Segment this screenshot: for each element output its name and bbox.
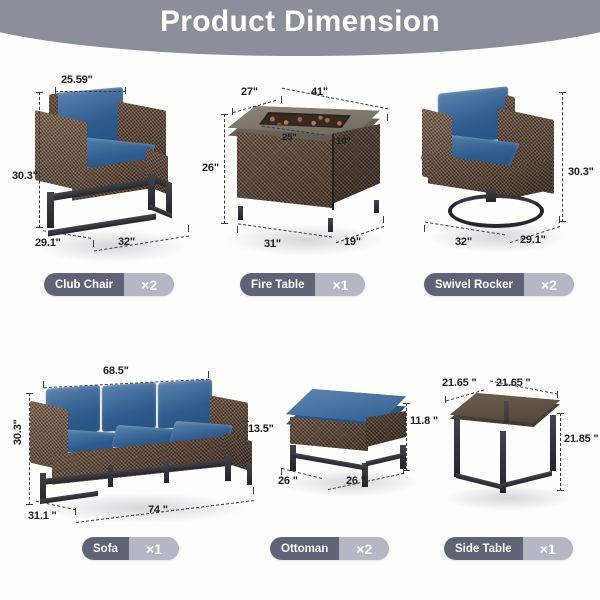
side-table-tick-height-bottom [557,490,564,491]
sofa-leg-mid-2 [164,461,169,483]
product-side-table: 21.65 " 21.65 " 21.85 " Side Table ×1 [434,365,600,565]
ottoman-tick-depth-left [281,468,282,475]
side-table-measure-height [560,413,561,491]
swivel-rocker-dim-depth: 29.1" [520,234,546,246]
sofa-tick-top-left [43,381,44,388]
side-table-tick-height-top [557,413,564,414]
sofa-measure-height [29,393,30,505]
swivel-rocker-name: Swivel Rocker [424,273,524,296]
fire-table-tick-width-right [387,114,388,121]
sofa-tick-height-bottom [26,504,33,505]
fire-table-tick-height-bottom [221,223,228,224]
sofa-tick-seat-top [242,421,249,422]
club-chair-quantity: ×2 [124,273,174,296]
sofa-leg-front-right [225,455,231,481]
side-table-tick-depth-left [445,396,446,403]
club-chair-tick-top-right [125,87,126,94]
club-chair-tick-top-left [55,87,56,94]
fire-table-tick-base-left [237,226,238,233]
swivel-rocker-illustration [400,66,596,266]
ottoman-rail-side [366,453,404,467]
club-chair-tick-height-top [36,92,43,93]
ottoman-label-pill[interactable]: Ottoman ×2 [270,537,389,560]
side-table-name: Side Table [444,537,523,560]
fire-table-leg-back-right [374,200,379,213]
fire-table-tick-depth-left [232,108,233,115]
fire-table-front-panel [237,132,333,208]
sofa-quantity: ×1 [129,537,179,560]
sofa-back-cushion-2 [102,382,156,432]
club-chair-label-pill[interactable]: Club Chair ×2 [44,273,174,296]
side-table-label-pill[interactable]: Side Table ×1 [444,537,573,560]
fire-table-leg-front-right [328,218,333,232]
ottoman-tick-height-top [403,403,410,404]
swivel-rocker-center-post [486,188,496,202]
sofa-tick-seat-bottom [242,444,249,445]
club-chair-tick-height-bottom [36,227,43,228]
sofa-leg-mid-1 [108,465,113,487]
sofa-dim-top-width: 68.5" [103,365,129,377]
sofa-stretcher [40,491,98,504]
club-chair-dim-depth: 29.1" [35,237,61,249]
side-table-tick-width-right [557,391,558,398]
swivel-rocker-swivel-ring [448,194,544,228]
side-table-illustration [434,365,600,525]
fire-table-measure-height [224,114,225,224]
side-table-quantity: ×1 [523,537,573,560]
fire-table-quantity: ×1 [315,273,365,296]
side-table-dim-depth: 21.65 " [442,377,476,389]
club-chair-measure-height [39,92,40,228]
sofa-name: Sofa [82,537,129,560]
club-chair-dim-height: 30.3" [12,170,38,182]
fire-table-corner-seam [332,134,334,210]
club-chair-leg-front-left [47,192,54,228]
side-table-rail-side [502,471,552,488]
ottoman-quantity: ×2 [339,537,389,560]
club-chair-measure-top [55,91,126,92]
fire-table-tick-base-right [383,216,384,223]
fire-table-tick-width-left [281,96,282,103]
side-table-leg-back-right [550,415,556,471]
ottoman-measure-height [406,403,407,471]
swivel-rocker-quantity: ×2 [524,273,574,296]
swivel-rocker-dim-height: 30.3" [568,166,594,178]
side-table-rail-front [456,473,504,490]
fire-table-dim-top-depth: 27" [241,86,258,98]
product-sofa: 68.5" 30.3" 13.5" 31.1 " 74 " Sofa ×1 [14,365,264,565]
fire-table-tick-height-top [221,114,228,115]
product-ottoman: 26 " 26 " 11.8 " Ottoman ×2 [266,365,434,565]
swivel-rocker-tick-depth-right [559,216,560,223]
sofa-tick-top-right [208,371,209,378]
ottoman-name: Ottoman [270,537,339,560]
sofa-dim-height: 30.3" [12,419,24,445]
fire-table-dim-height: 26" [202,162,219,174]
club-chair-name: Club Chair [44,273,124,296]
club-chair-leg-back-right [166,183,172,214]
page-title: Product Dimension [0,5,600,39]
swivel-rocker-label-pill[interactable]: Swivel Rocker ×2 [424,273,574,296]
ottoman-dim-depth: 26 " [278,475,298,487]
club-chair-tick-width-left [93,240,94,247]
sofa-tick-height-top [26,393,33,394]
page-header: Product Dimension [0,0,600,56]
club-chair-illustration [14,66,204,266]
sofa-tick-width-right [253,487,254,494]
swivel-rocker-measure-height [562,92,563,222]
product-swivel-rocker: 30.3" 32" 29.1" Swivel Rocker ×2 [400,66,596,302]
swivel-rocker-tick-width-left [424,225,425,232]
ottoman-tick-height-bottom [403,470,410,471]
sofa-leg-back-right [247,463,252,485]
sofa-measure-seat-height [245,421,246,445]
ottoman-rail-front [292,452,366,470]
product-club-chair: 25.59" 30.3" 29.1" 32" Club Chair ×2 [14,66,204,302]
swivel-rocker-tick-height-bottom [559,221,566,222]
fire-table-label-pill[interactable]: Fire Table ×1 [240,273,365,296]
fire-table-dim-burner-width: 25" [282,132,296,143]
ottoman-illustration [266,365,434,515]
swivel-rocker-tick-height-top [559,92,566,93]
sofa-leg-front-left [40,473,46,499]
side-table-dim-height: 21.85 " [564,433,598,445]
product-fire-table: 27" 41" 25" 10" 26" 31" 19" Fire Table ×… [204,66,400,302]
side-table-leg-front-left [454,415,460,477]
club-chair-dim-top-width: 25.59" [61,74,93,86]
fire-table-illustration [204,66,400,266]
sofa-label-pill[interactable]: Sofa ×1 [82,537,179,560]
fire-table-name: Fire Table [240,273,315,296]
sofa-tick-width-left [75,508,76,515]
fire-table-dim-base-width: 31" [264,238,281,250]
fire-table-leg-front-left [238,206,243,220]
side-table-leg-back-left [504,401,509,423]
club-chair-tick-width-right [188,225,189,232]
swivel-rocker-dim-width: 32" [455,236,472,248]
sofa-dim-depth: 31.1 " [28,510,56,522]
